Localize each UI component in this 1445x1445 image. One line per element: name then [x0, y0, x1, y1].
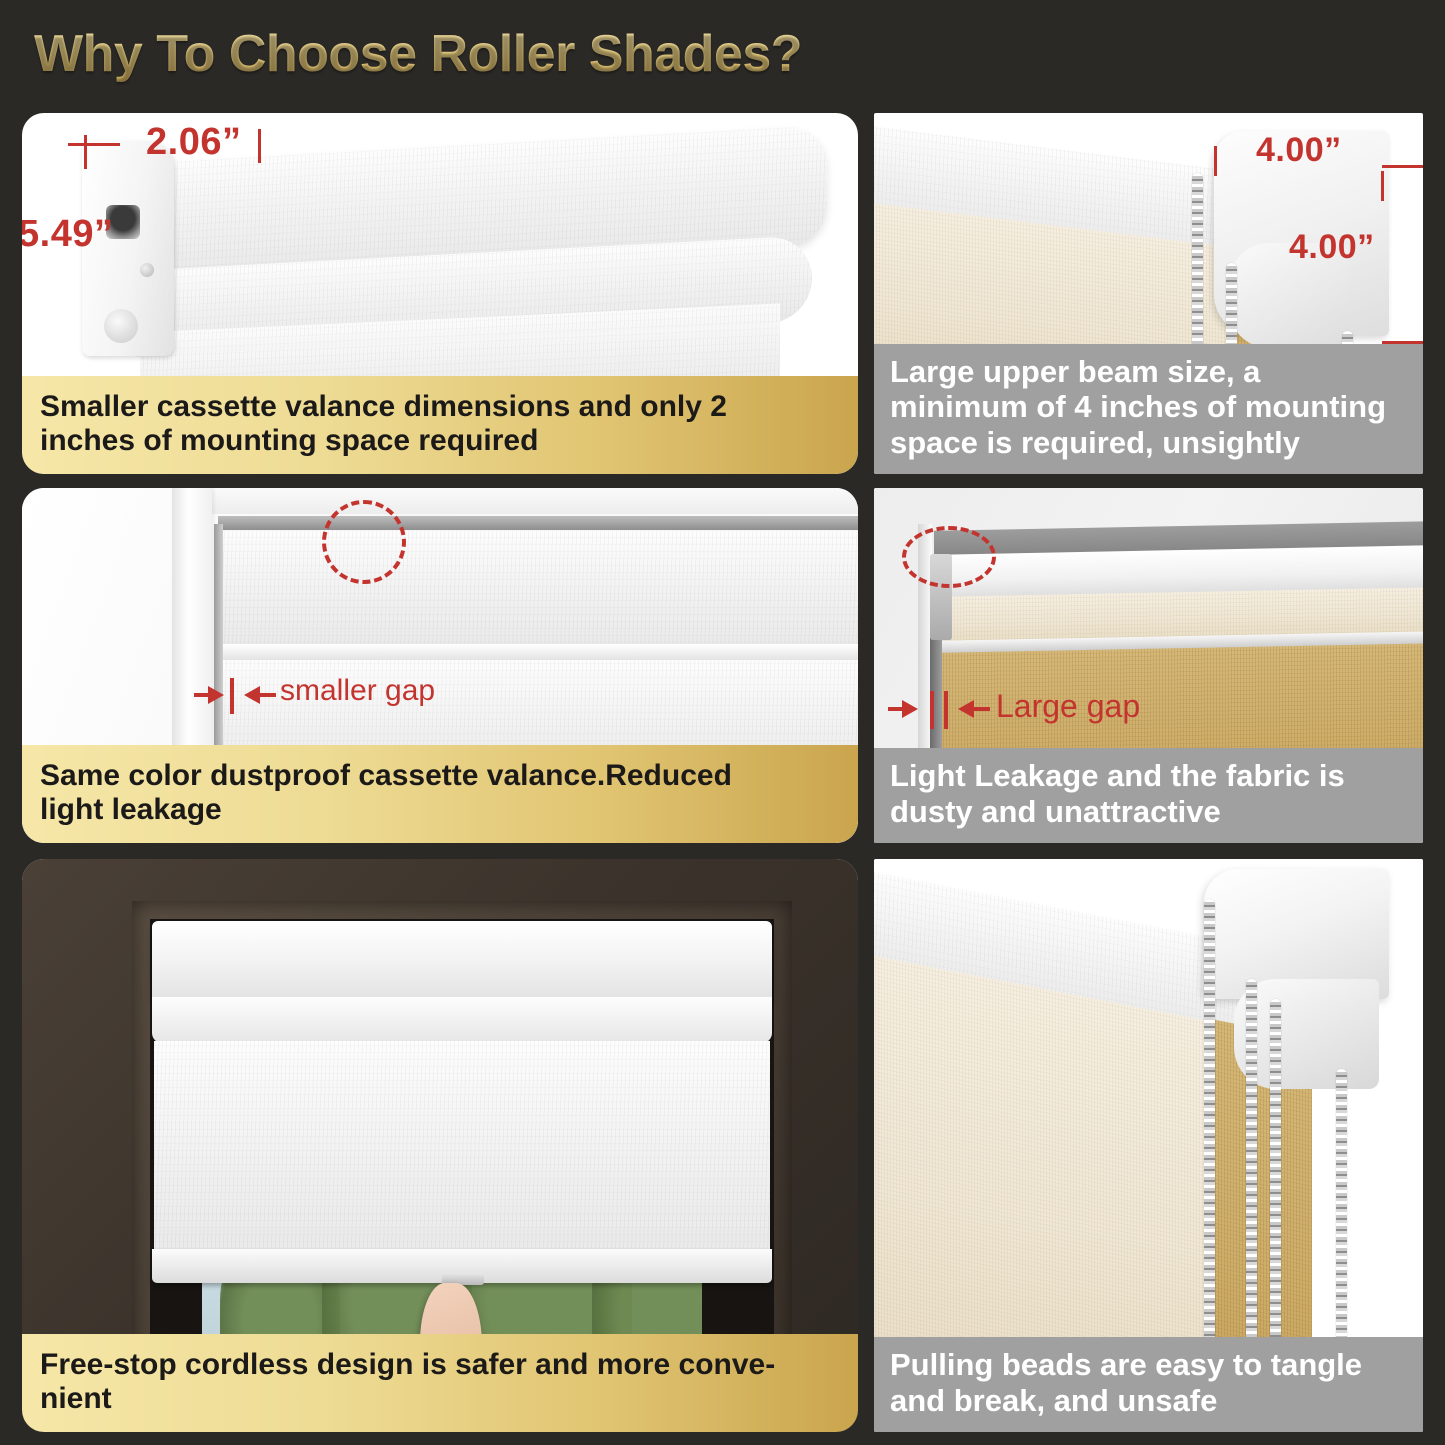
highlight-ring-icon [902, 526, 996, 588]
panel-middle-left[interactable]: smaller gap Same color dustproof cassett… [22, 488, 858, 843]
depth-tick-right [258, 129, 261, 163]
caption-line: Smaller cassette valance dimensions and … [40, 390, 840, 424]
caption-line: inches of mounting space required [40, 424, 840, 458]
caption-top-left: Smaller cassette valance dimensions and … [22, 376, 858, 474]
window-casing-left [172, 488, 212, 788]
caption-middle-left: Same color dustproof cassette valance.Re… [22, 745, 858, 843]
caption-line: space is required, unsightly [890, 425, 1409, 460]
caption-line: and break, and unsafe [890, 1383, 1409, 1418]
comparison-grid: 5.49” 2.06” Smaller cassette valance dim… [0, 0, 1445, 1445]
caption-line: Pulling beads are easy to tangle [890, 1347, 1409, 1382]
caption-line: light leakage [40, 793, 840, 827]
gap-callout-label: smaller gap [280, 674, 435, 708]
panel-bottom-right[interactable]: Pulling beads are easy to tangle and bre… [874, 859, 1423, 1432]
panel-bottom-left[interactable]: Free-stop cordless design is safer and m… [22, 859, 858, 1432]
window-casing-top [172, 488, 858, 514]
panel-top-right[interactable]: 4.00” 4.00” Large upper beam size, a min… [874, 113, 1423, 474]
caption-line: Free-stop cordless design is safer and m… [40, 1348, 840, 1382]
gap-callout-label: Large gap [996, 688, 1140, 725]
caption-bottom-right: Pulling beads are easy to tangle and bre… [874, 1337, 1423, 1432]
gap-arrow-stem [972, 707, 990, 711]
valance-screw [140, 263, 154, 277]
shade-fabric [154, 1041, 770, 1256]
caption-line: Same color dustproof cassette valance.Re… [40, 759, 840, 793]
width-tick-right [1381, 171, 1384, 201]
height-dimension-label: 5.49” [22, 213, 113, 256]
cassette-valance-lip [152, 997, 772, 1043]
bead-chain [1204, 899, 1215, 1359]
cassette-valance [152, 921, 772, 1001]
gap-bar [944, 691, 948, 729]
panel-middle-right[interactable]: Large gap Light Leakage and the fabric i… [874, 488, 1423, 843]
gap-arrow-stem [194, 693, 212, 697]
valance-knob [104, 309, 138, 343]
depth-tick-left [84, 135, 87, 169]
height-tick-top [68, 143, 120, 146]
bead-chain [1246, 979, 1257, 1369]
height-dimension-label: 4.00” [1289, 228, 1375, 267]
caption-top-right: Large upper beam size, a minimum of 4 in… [874, 344, 1423, 474]
highlight-ring-icon [322, 500, 406, 584]
gap-bar [930, 691, 934, 729]
caption-bottom-left: Free-stop cordless design is safer and m… [22, 1334, 858, 1432]
height-tick-top [1382, 165, 1423, 168]
shade-upper [220, 530, 858, 650]
width-dimension-label: 4.00” [1256, 131, 1342, 170]
bead-chain [1336, 1069, 1347, 1369]
panel-top-left[interactable]: 5.49” 2.06” Smaller cassette valance dim… [22, 113, 858, 474]
height-dimension-line [22, 113, 25, 403]
gap-bar [230, 678, 234, 714]
caption-line: Light Leakage and the fabric is [890, 758, 1409, 793]
caption-middle-right: Light Leakage and the fabric is dusty an… [874, 748, 1423, 843]
width-dimension-line [874, 113, 1044, 116]
bead-chain [1270, 999, 1281, 1371]
caption-line: nient [40, 1382, 840, 1416]
caption-line: minimum of 4 inches of mounting [890, 389, 1409, 424]
gap-arrow-stem [258, 693, 276, 697]
valance-header [218, 516, 858, 530]
caption-line: Large upper beam size, a [890, 354, 1409, 389]
depth-dimension-label: 2.06” [146, 121, 241, 164]
gap-arrow-stem [888, 707, 906, 711]
width-tick-left [1214, 146, 1217, 176]
caption-line: dusty and unattractive [890, 794, 1409, 829]
